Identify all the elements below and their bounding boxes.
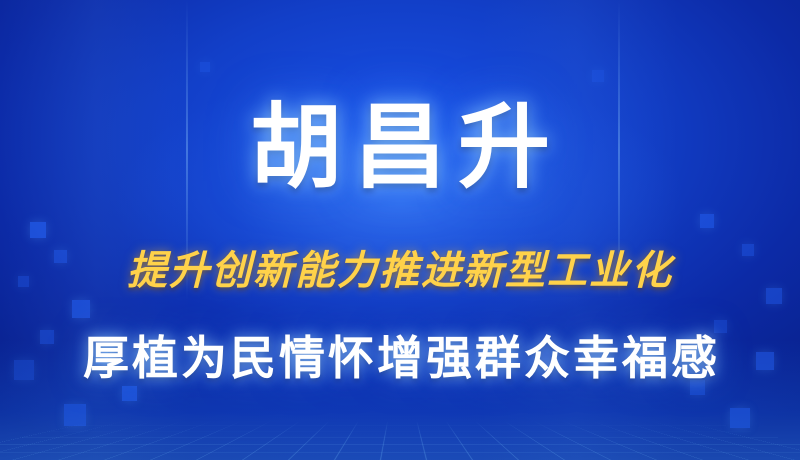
banner-image: 胡昌升 提升创新能力推进新型工业化 厚植为民情怀增强群众幸福感 (0, 0, 800, 460)
subtitle-text: 提升创新能力推进新型工业化 (0, 238, 800, 296)
text-content: 胡昌升 提升创新能力推进新型工业化 厚植为民情怀增强群众幸福感 (0, 0, 800, 460)
page-title: 胡昌升 (0, 98, 800, 197)
tagline-text: 厚植为民情怀增强群众幸福感 (0, 322, 800, 388)
